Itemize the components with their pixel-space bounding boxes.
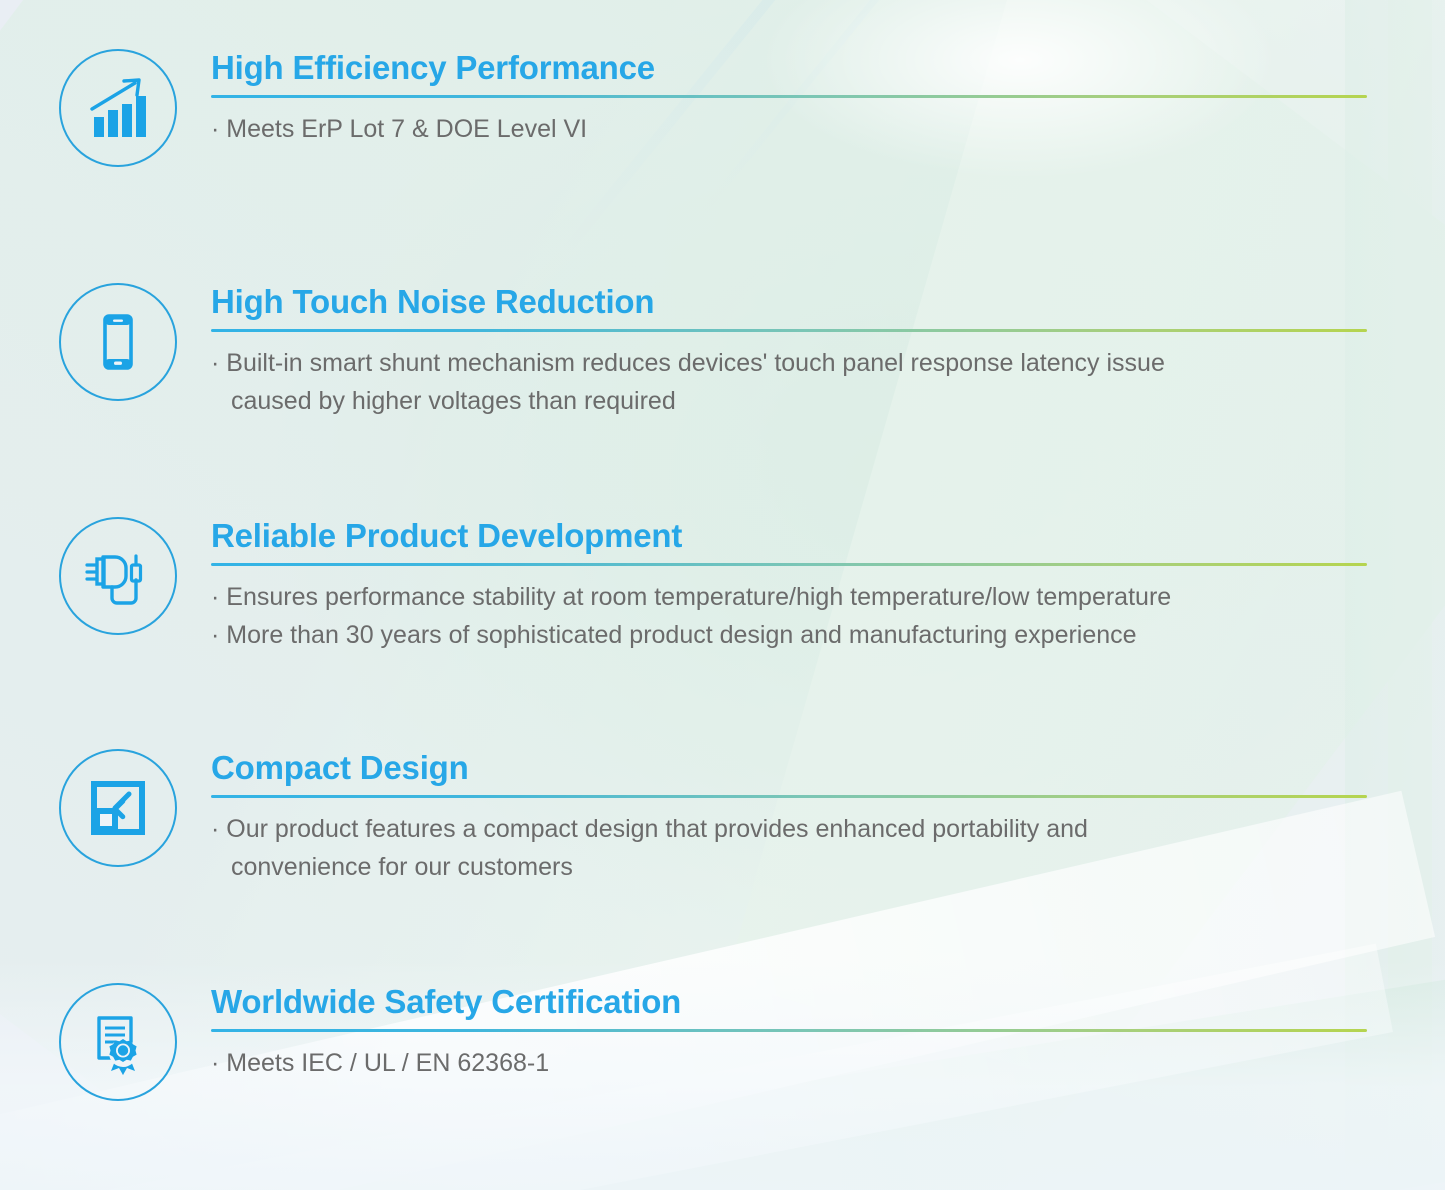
feature-divider [211, 795, 1367, 798]
feature-title: High Efficiency Performance [211, 48, 1367, 88]
bullet-marker: · [211, 115, 219, 143]
feature-title: Reliable Product Development [211, 516, 1367, 556]
background-right-band-2 [1388, 0, 1432, 1190]
bullet-marker: · [211, 1049, 219, 1077]
feature-body: High Efficiency Performance · Meets ErP … [211, 48, 1367, 148]
feature-bullets: · Built-in smart shunt mechanism reduces… [211, 344, 1367, 420]
feature-highlights-page: High Efficiency Performance · Meets ErP … [0, 0, 1445, 1190]
bullet-text-continuation: convenience for our customers [211, 848, 1367, 886]
bullet-marker: · [211, 583, 219, 611]
feature-body: Reliable Product Development · Ensures p… [211, 516, 1367, 654]
smartphone-icon [59, 283, 177, 401]
feature-bullets: · Our product features a compact design … [211, 810, 1367, 886]
bullet-item: · Meets ErP Lot 7 & DOE Level VI [211, 110, 1367, 148]
bullet-text: Our product features a compact design th… [226, 815, 1088, 843]
bullet-text: Meets IEC / UL / EN 62368-1 [226, 1049, 549, 1077]
bullet-marker: · [211, 621, 219, 649]
feature-icon-wrapper [58, 48, 178, 168]
bullet-text-continuation: caused by higher voltages than required [211, 382, 1367, 420]
bullet-text: Built-in smart shunt mechanism reduces d… [226, 349, 1165, 377]
bullet-item: · Built-in smart shunt mechanism reduces… [211, 344, 1367, 420]
feature-bullets: · Ensures performance stability at room … [211, 578, 1367, 654]
bullet-text: Ensures performance stability at room te… [226, 583, 1171, 611]
feature-title: High Touch Noise Reduction [211, 282, 1367, 322]
bullet-marker: · [211, 815, 219, 843]
feature-divider [211, 563, 1367, 566]
bullet-item: · Meets IEC / UL / EN 62368-1 [211, 1044, 1367, 1082]
feature-icon-wrapper [58, 982, 178, 1102]
bar-chart-growth-icon [59, 49, 177, 167]
bullet-marker: · [211, 349, 219, 377]
bullet-item: · More than 30 years of sophisticated pr… [211, 616, 1367, 654]
feature-bullets: · Meets IEC / UL / EN 62368-1 [211, 1044, 1367, 1082]
feature-divider [211, 329, 1367, 332]
feature-body: Worldwide Safety Certification · Meets I… [211, 982, 1367, 1082]
bullet-text: More than 30 years of sophisticated prod… [226, 621, 1136, 649]
certificate-award-icon [59, 983, 177, 1101]
feature-divider [211, 1029, 1367, 1032]
feature-icon-wrapper [58, 516, 178, 636]
power-adapter-icon [59, 517, 177, 635]
feature-icon-wrapper [58, 748, 178, 868]
feature-divider [211, 95, 1367, 98]
bullet-item: · Our product features a compact design … [211, 810, 1367, 886]
feature-icon-wrapper [58, 282, 178, 402]
feature-body: Compact Design · Our product features a … [211, 748, 1367, 886]
feature-title: Worldwide Safety Certification [211, 982, 1367, 1022]
bullet-text: Meets ErP Lot 7 & DOE Level VI [226, 115, 587, 143]
compact-resize-icon [59, 749, 177, 867]
feature-bullets: · Meets ErP Lot 7 & DOE Level VI [211, 110, 1367, 148]
bullet-item: · Ensures performance stability at room … [211, 578, 1367, 616]
feature-body: High Touch Noise Reduction · Built-in sm… [211, 282, 1367, 420]
feature-title: Compact Design [211, 748, 1367, 788]
